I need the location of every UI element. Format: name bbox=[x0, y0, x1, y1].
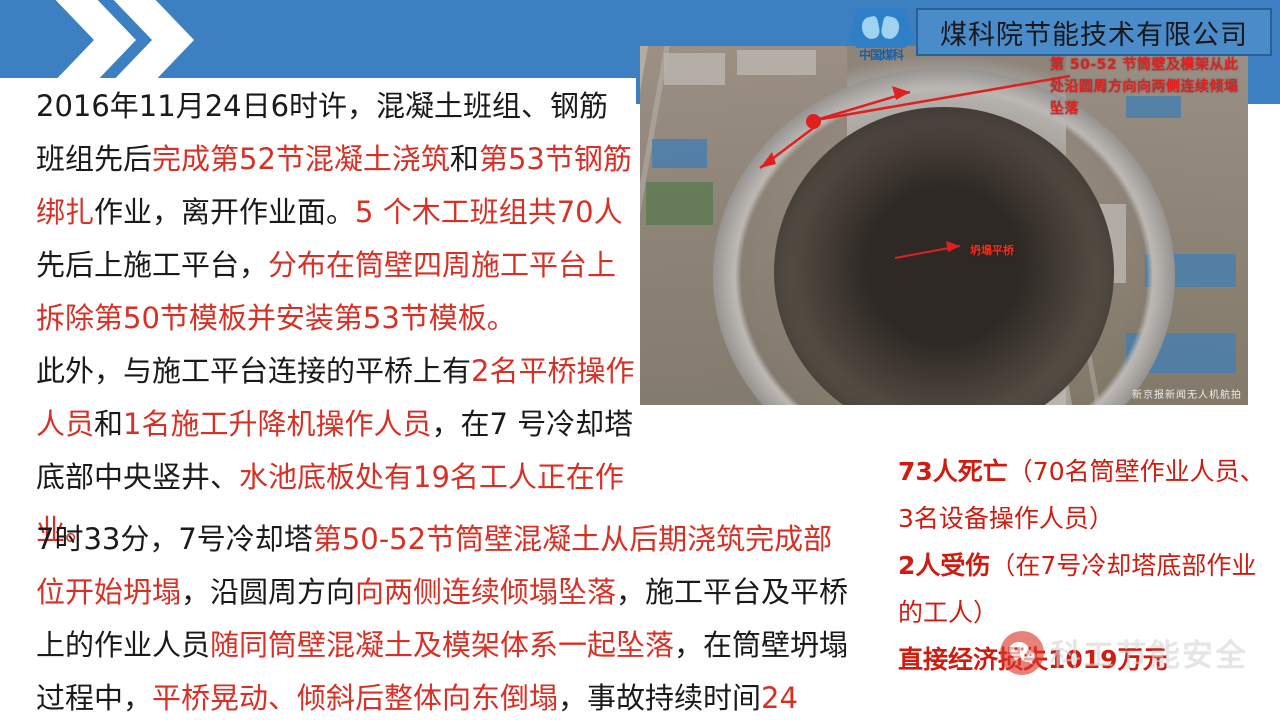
double-chevron-icon bbox=[44, 0, 204, 88]
stats-headline: 直接经济损失1019万元 bbox=[898, 645, 1168, 674]
text-run: ，事故持续时间 bbox=[558, 681, 761, 715]
stats-line: 直接经济损失1019万元 bbox=[898, 636, 1266, 683]
text-run: 平桥晃动、倾斜后整体向东倒塌 bbox=[152, 681, 558, 715]
accident-aerial-photo: 第 50-52 节筒壁及模架从此处沿圆周方向向两侧连续倾塌坠落 坍塌平桥 新京报… bbox=[640, 46, 1248, 405]
casualty-stats-block: 73人死亡（70名筒壁作业人员、3名设备操作人员） 2人受伤（在7号冷却塔底部作… bbox=[898, 448, 1266, 683]
text-run: 和 bbox=[450, 142, 479, 176]
text-run: 1名施工升降机操作人员 bbox=[123, 407, 431, 441]
text-run: 向两侧连续倾塌坠落 bbox=[355, 575, 616, 609]
text-run: 和 bbox=[94, 407, 123, 441]
collapse-origin-marker bbox=[806, 114, 821, 129]
narrative-paragraph-3: 7时33分，7号冷却塔第50-52节筒壁混凝土从后期浇筑完成部位开始坍塌，沿圆周… bbox=[36, 513, 854, 720]
company-title-text: 煤科院节能技术有限公司 bbox=[940, 13, 1248, 52]
photo-source-watermark: 新京报新闻无人机航拍 bbox=[1132, 386, 1242, 401]
narrative-column-left: 2016年11月24日6时许，混凝土班组、钢筋班组先后完成第52节混凝土浇筑和第… bbox=[36, 80, 636, 557]
stats-headline: 73人死亡 bbox=[898, 457, 1008, 486]
logo-glyph-left bbox=[860, 15, 881, 40]
text-run: 作业，离开作业面。 bbox=[94, 195, 355, 229]
text-run: 随同筒壁混凝土及模架体系一起坠落 bbox=[210, 628, 674, 662]
narrative-paragraph-1: 2016年11月24日6时许，混凝土班组、钢筋班组先后完成第52节混凝土浇筑和第… bbox=[36, 80, 636, 345]
stats-line: 2人受伤（在7号冷却塔底部作业的工人） bbox=[898, 542, 1266, 636]
company-logo: 中国煤科 bbox=[848, 6, 914, 62]
stats-headline: 2人受伤 bbox=[898, 551, 990, 580]
text-run: ，沿圆周方向 bbox=[181, 575, 355, 609]
company-title-box: 煤科院节能技术有限公司 bbox=[916, 8, 1272, 56]
photo-annotation-small: 坍塌平桥 bbox=[970, 242, 1014, 258]
text-run: 5 个木工班组共70人 bbox=[355, 195, 623, 229]
logo-caption: 中国煤科 bbox=[846, 46, 916, 63]
text-run: 此外，与施工平台连接的平桥上有 bbox=[36, 354, 471, 388]
slide-canvas: 中国煤科 煤科院节能技术有限公司 第 50-52 节筒壁及模架从此处沿圆周方向向… bbox=[0, 0, 1280, 720]
photo-annotation-main: 第 50-52 节筒壁及模架从此处沿圆周方向向两侧连续倾塌坠落 bbox=[1050, 54, 1244, 120]
text-run: 7时33分，7号冷却塔 bbox=[36, 522, 313, 556]
text-run: 先后上施工平台， bbox=[36, 248, 268, 282]
logo-glyph-right bbox=[880, 15, 901, 40]
logo-shield-icon bbox=[848, 8, 914, 48]
stats-line: 73人死亡（70名筒壁作业人员、3名设备操作人员） bbox=[898, 448, 1266, 542]
text-run: 完成第52节混凝土浇筑 bbox=[152, 142, 450, 176]
narrative-paragraph-3-wide: 7时33分，7号冷却塔第50-52节筒壁混凝土从后期浇筑完成部位开始坍塌，沿圆周… bbox=[36, 513, 854, 720]
